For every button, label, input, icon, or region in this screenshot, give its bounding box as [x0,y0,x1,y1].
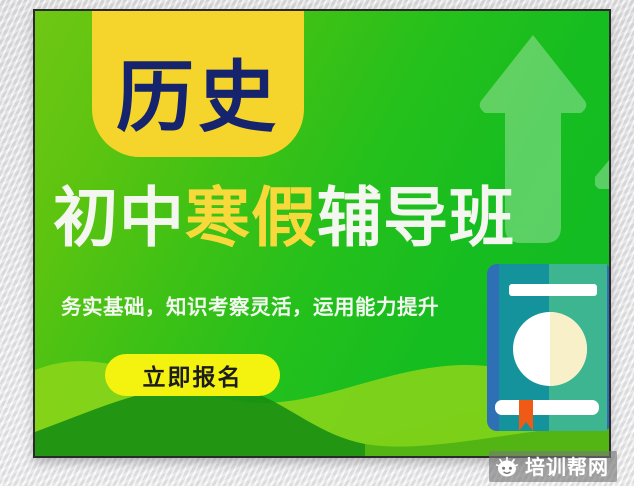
signup-button-label: 立即报名 [143,358,243,392]
book-illustration [487,264,609,431]
subject-badge: 历史 [92,11,304,157]
page-background: 历史 初中寒假辅导班 务实基础，知识考察灵活，运用能力提升 立即报名 [0,0,634,486]
headline: 初中寒假辅导班 [53,186,515,251]
signup-button[interactable]: 立即报名 [105,354,280,396]
promo-banner: 历史 初中寒假辅导班 务实基础，知识考察灵活，运用能力提升 立即报名 [35,11,609,456]
watermark: 培训帮网 [489,451,617,482]
headline-part-2: 辅导班 [317,181,515,256]
banner-frame: 历史 初中寒假辅导班 务实基础，知识考察灵活，运用能力提升 立即报名 [33,9,611,458]
subtitle: 务实基础，知识考察灵活，运用能力提升 [61,290,439,320]
headline-part-highlight: 寒假 [185,181,317,256]
watermark-label: 培训帮网 [525,457,609,477]
subject-label: 历史 [116,59,280,157]
headline-part-1: 初中 [53,181,185,256]
sun-face-icon [495,456,519,478]
